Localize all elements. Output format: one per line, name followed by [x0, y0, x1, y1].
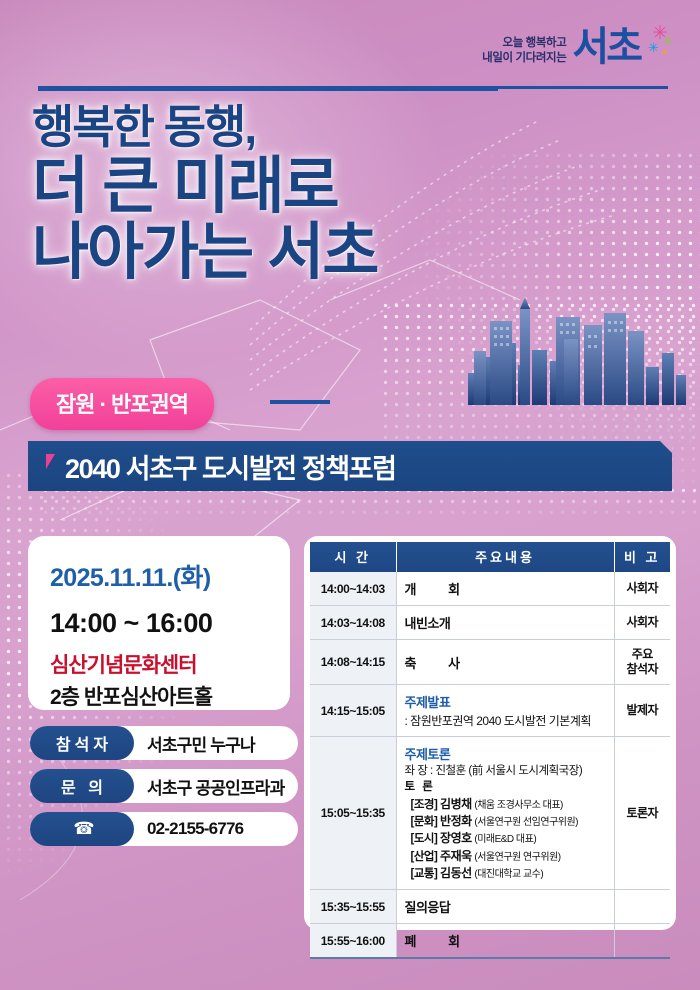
- list-item: [문화] 반정화 (서울연구원 선임연구위원): [411, 813, 606, 830]
- logo-stars-icon: ✳ ✳ ✳ ✳: [646, 26, 672, 66]
- row-title: 개 회: [405, 582, 475, 597]
- poster-root: 오늘 행복하고 내일이 기다려지는 서초 ✳ ✳ ✳ ✳ 행복한 동행, 더 큰…: [0, 0, 700, 990]
- seocho-logo: 오늘 행복하고 내일이 기다려지는 서초 ✳ ✳ ✳ ✳: [482, 26, 672, 66]
- panelist-affiliation: (서울연구원 선임연구위원): [474, 817, 578, 828]
- list-item: [교통] 김동선 (대진대학교 교수): [411, 865, 606, 882]
- event-details-card: 2025.11.11.(화) 14:00 ~ 16:00 심산기념문화센터 2층…: [28, 536, 290, 710]
- region-badge-rule: [270, 400, 330, 404]
- halftone-dots-band: [40, 485, 700, 525]
- banner-triangle-icon: [46, 454, 55, 469]
- forum-banner: 2040 서초구 도시발전 정책포럼: [28, 441, 672, 491]
- contact-label: 문 의: [30, 769, 134, 803]
- table-row: 15:35~15:55 질의응답: [310, 890, 670, 924]
- panelist-field: [산업]: [411, 851, 438, 863]
- contact-value: 서초구 공공인프라과: [134, 774, 284, 799]
- info-row-attendee: 참석자 서초구민 누구나: [30, 726, 298, 760]
- row-content: 내빈소개: [396, 606, 614, 640]
- event-time: 14:00 ~ 16:00: [50, 608, 290, 639]
- contact-info-list: 참석자 서초구민 누구나 문 의 서초구 공공인프라과 ☎ 02-2155-67…: [30, 726, 298, 846]
- row-panel-label: 토 론: [405, 779, 606, 795]
- page-title: 행복한 동행, 더 큰 미래로 나아가는 서초: [32, 104, 502, 286]
- list-item: [조경] 김병채 (채움 조경사무소 대표): [411, 796, 606, 813]
- row-note: 토론자: [614, 737, 670, 890]
- headline-line-3: 나아가는 서초: [32, 221, 502, 285]
- city-skyline-illustration: [460, 295, 692, 405]
- row-content: 주제발표 : 잠원반포권역 2040 도시발전 기본계획: [396, 685, 614, 737]
- panelist-field: [조경]: [411, 799, 438, 811]
- phone-value: 02-2155-6776: [134, 819, 243, 839]
- table-row: 14:03~14:08 내빈소개 사회자: [310, 606, 670, 640]
- panelist-field: [교통]: [411, 868, 438, 880]
- row-note: 주요 참석자: [614, 640, 670, 685]
- agenda-header-note: 비 고: [614, 542, 670, 572]
- row-title: 폐 회: [405, 934, 475, 949]
- row-title: 주제발표: [405, 692, 606, 711]
- top-divider-rule: [38, 86, 668, 89]
- panelist-affiliation: (대진대학교 교수): [474, 869, 543, 880]
- event-venue: 심산기념문화센터: [50, 649, 290, 679]
- row-content: 질의응답: [396, 890, 614, 924]
- panelist-name: 김병채: [440, 797, 472, 811]
- agenda-card: 시 간 주요내용 비 고 14:00~14:03 개 회 사회자 14:03~1…: [304, 536, 676, 930]
- row-subtitle: : 잠원반포권역 2040 도시발전 기본계획: [405, 712, 606, 729]
- row-title: 내빈소개: [405, 616, 451, 631]
- row-content: 개 회: [396, 572, 614, 606]
- row-chair: 좌 장 : 진철훈 (前 서울시 도시계획국장): [405, 763, 606, 779]
- list-item: [도시] 장영호 (미래E&D 대표): [411, 830, 606, 847]
- row-note: 사회자: [614, 606, 670, 640]
- attendee-value: 서초구민 누구나: [134, 731, 255, 756]
- info-row-phone: ☎ 02-2155-6776: [30, 812, 298, 846]
- info-row-contact: 문 의 서초구 공공인프라과: [30, 769, 298, 803]
- panelist-field: [문화]: [411, 816, 438, 828]
- table-row: 15:55~16:00 폐 회: [310, 924, 670, 959]
- table-row: 15:05~15:35 주제토론 좌 장 : 진철훈 (前 서울시 도시계획국장…: [310, 737, 670, 890]
- attendee-label: 참석자: [30, 726, 134, 760]
- row-note: 사회자: [614, 572, 670, 606]
- logo-tagline-line1: 오늘 행복하고: [482, 36, 566, 51]
- row-note: 발제자: [614, 685, 670, 737]
- star-orange-icon: ✳: [661, 48, 669, 57]
- agenda-header-time: 시 간: [310, 542, 396, 572]
- panelist-name: 반정화: [440, 814, 472, 828]
- row-time: 15:35~15:55: [310, 890, 396, 924]
- agenda-header-content: 주요내용: [396, 542, 614, 572]
- row-time: 14:15~15:05: [310, 685, 396, 737]
- banner-title: 2040 서초구 도시발전 정책포럼: [65, 447, 396, 486]
- phone-icon: ☎: [30, 812, 134, 846]
- table-row: 14:15~15:05 주제발표 : 잠원반포권역 2040 도시발전 기본계획…: [310, 685, 670, 737]
- row-note: [614, 924, 670, 959]
- headline-line-2: 더 큰 미래로: [32, 155, 502, 219]
- logo-tagline: 오늘 행복하고 내일이 기다려지는: [482, 36, 566, 66]
- logo-wordmark: 서초: [572, 29, 640, 66]
- row-time: 14:00~14:03: [310, 572, 396, 606]
- region-badge: 잠원 · 반포권역: [30, 378, 214, 430]
- panelist-list: [조경] 김병채 (채움 조경사무소 대표) [문화] 반정화 (서울연구원 선…: [405, 796, 606, 883]
- list-item: [산업] 주재욱 (서울연구원 연구위원): [411, 848, 606, 865]
- panelist-affiliation: (서울연구원 연구위원): [474, 852, 560, 863]
- panelist-name: 김동선: [440, 866, 472, 880]
- panelist-affiliation: (미래E&D 대표): [474, 834, 536, 845]
- star-blue-icon: ✳: [648, 41, 659, 54]
- row-content: 폐 회: [396, 924, 614, 959]
- table-row: 14:08~14:15 축 사 주요 참석자: [310, 640, 670, 685]
- row-time: 14:03~14:08: [310, 606, 396, 640]
- panelist-affiliation: (채움 조경사무소 대표): [474, 800, 563, 811]
- panelist-field: [도시]: [411, 833, 438, 845]
- event-hall: 2층 반포심산아트홀: [50, 681, 290, 711]
- panelist-name: 주재욱: [440, 849, 472, 863]
- agenda-table: 시 간 주요내용 비 고 14:00~14:03 개 회 사회자 14:03~1…: [310, 542, 670, 959]
- row-title: 축 사: [405, 656, 475, 671]
- row-time: 14:08~14:15: [310, 640, 396, 685]
- event-date: 2025.11.11.(화): [50, 558, 290, 594]
- row-title: 질의응답: [405, 900, 451, 915]
- panelist-name: 장영호: [440, 831, 472, 845]
- headline-line-1: 행복한 동행,: [32, 104, 502, 151]
- row-content: 축 사: [396, 640, 614, 685]
- row-note: [614, 890, 670, 924]
- table-row: 14:00~14:03 개 회 사회자: [310, 572, 670, 606]
- star-green-icon: ✳: [663, 35, 673, 47]
- row-title: 주제토론: [405, 744, 606, 763]
- agenda-header-row: 시 간 주요내용 비 고: [310, 542, 670, 572]
- row-content: 주제토론 좌 장 : 진철훈 (前 서울시 도시계획국장) 토 론 [조경] 김…: [396, 737, 614, 890]
- row-time: 15:05~15:35: [310, 737, 396, 890]
- row-time: 15:55~16:00: [310, 924, 396, 959]
- logo-tagline-line2: 내일이 기다려지는: [482, 51, 566, 66]
